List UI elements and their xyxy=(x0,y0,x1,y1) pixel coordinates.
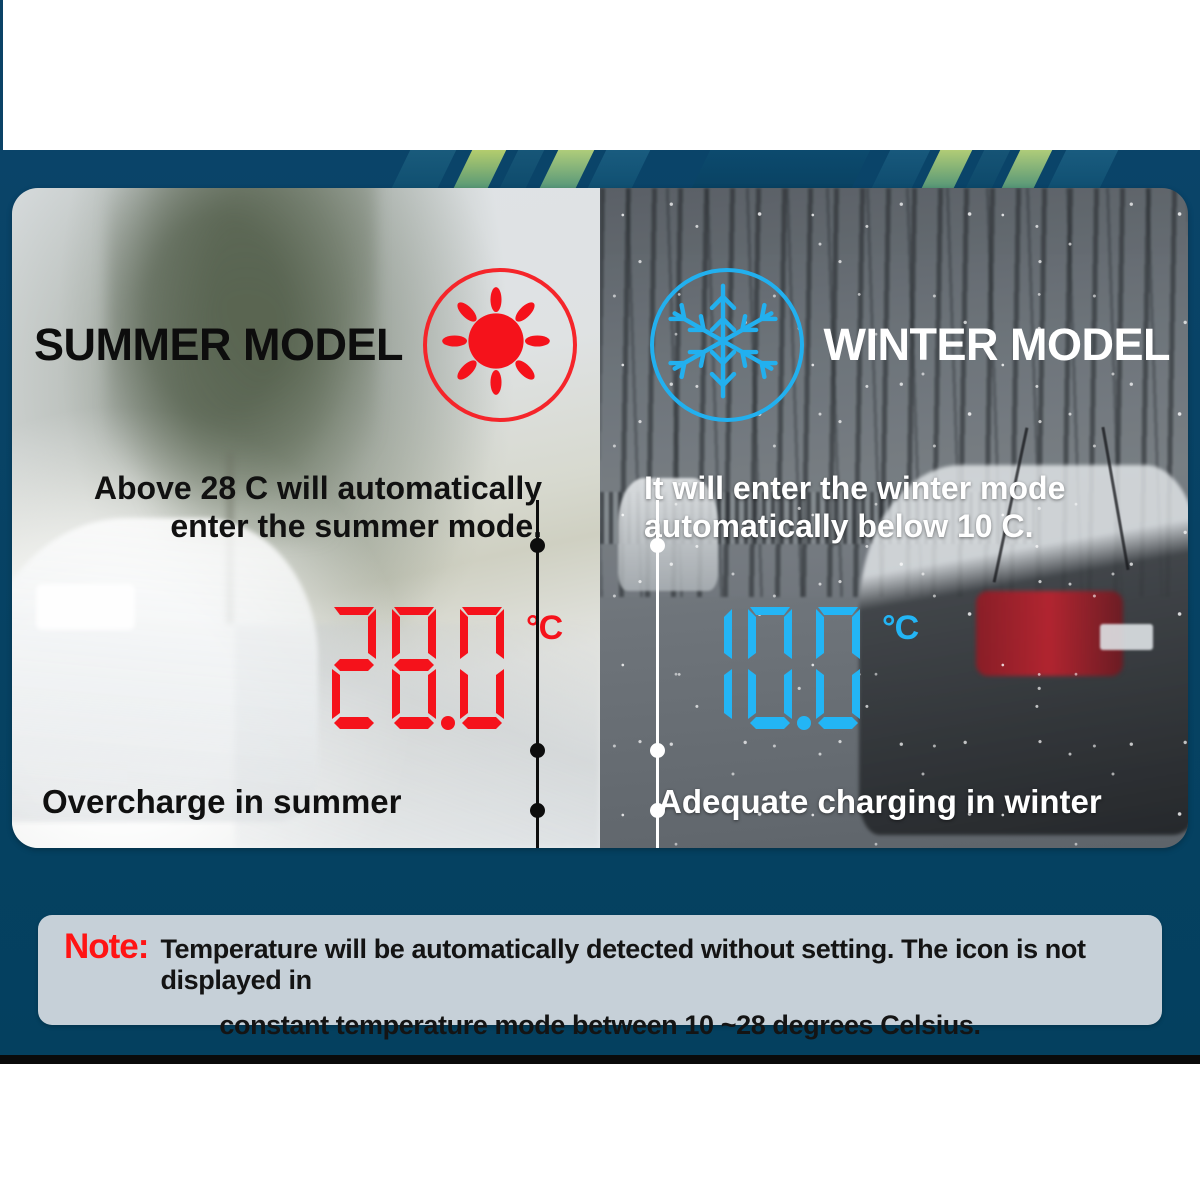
note-line-2: constant temperature mode between 10 ~28… xyxy=(64,1010,1136,1041)
summer-mode-header: SUMMER MODEL xyxy=(34,268,577,422)
seven-segment-28-0 xyxy=(330,603,520,735)
winter-caption: Adequate charging in winter xyxy=(658,783,1102,821)
summer-caption: Overcharge in summer xyxy=(42,783,402,821)
winter-temperature-readout: °C xyxy=(686,603,918,735)
stripe xyxy=(1039,150,1125,190)
note-bar: Note: Temperature will be automatically … xyxy=(38,915,1162,1025)
top-left-rule xyxy=(0,0,3,150)
stripe xyxy=(683,150,877,190)
infographic-root: SUMMER MODEL xyxy=(0,0,1200,1200)
summer-temperature-readout: °C xyxy=(330,603,562,735)
seven-segment-10-0 xyxy=(686,603,876,735)
winter-digits xyxy=(686,603,876,735)
winter-connector-rail xyxy=(656,500,659,848)
sun-icon xyxy=(423,268,577,422)
rail-dot xyxy=(650,803,665,818)
summer-digits xyxy=(330,603,520,735)
summer-blurb: Above 28 C will automatically enter the … xyxy=(22,470,542,546)
note-label: Note: xyxy=(64,927,148,967)
note-line-1: Temperature will be automatically detect… xyxy=(160,934,1136,996)
summer-unit: °C xyxy=(526,609,562,648)
white-car xyxy=(12,518,318,822)
summer-title: SUMMER MODEL xyxy=(34,319,403,371)
frame-bottom-edge xyxy=(0,1055,1200,1064)
winter-unit: °C xyxy=(882,609,918,648)
winter-half: WINTER MODEL It will enter the winter mo… xyxy=(600,188,1188,848)
snowflake-icon xyxy=(650,268,804,422)
rail-dot xyxy=(650,743,665,758)
stripe xyxy=(383,150,463,190)
winter-mode-header: WINTER MODEL xyxy=(650,268,1170,422)
rail-dot xyxy=(650,538,665,553)
navy-frame: SUMMER MODEL xyxy=(0,150,1200,1055)
car-grille xyxy=(36,584,136,630)
winter-blurb: It will enter the winter mode automatica… xyxy=(644,470,1184,546)
diagonal-stripe-decoration xyxy=(0,150,1200,190)
rail-dot xyxy=(530,803,545,818)
summer-half: SUMMER MODEL xyxy=(12,188,600,848)
winter-title: WINTER MODEL xyxy=(824,319,1170,371)
rail-dot xyxy=(530,743,545,758)
summer-connector-rail xyxy=(536,500,539,848)
comparison-panel: SUMMER MODEL xyxy=(12,188,1188,848)
rail-dot xyxy=(530,538,545,553)
note-first-line: Note: Temperature will be automatically … xyxy=(64,927,1136,996)
